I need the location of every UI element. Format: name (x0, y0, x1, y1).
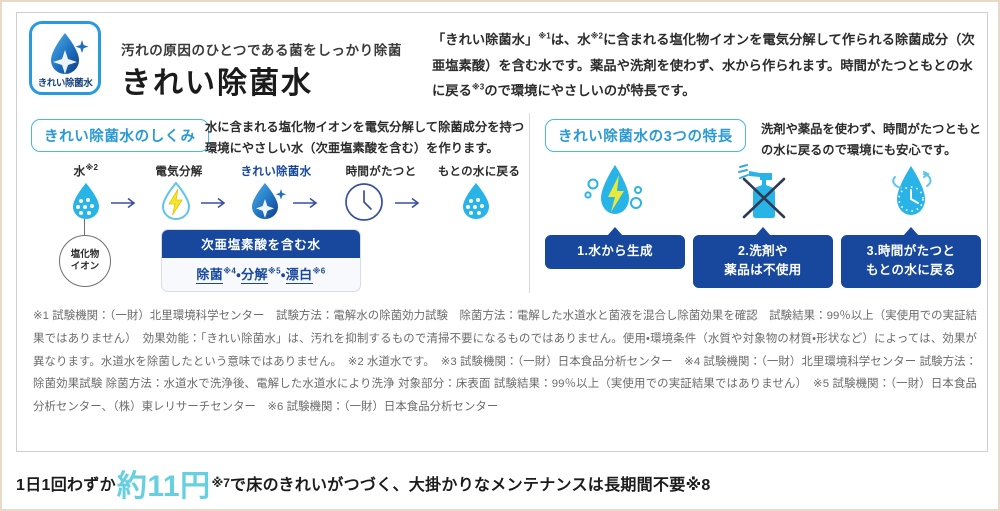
feature-card-3-label: 3.時間がたつともとの水に戻る (841, 235, 981, 288)
footnote-mark: ※6 (313, 267, 326, 276)
price-banner: 1日1回わずか 約11円 ※7 で床のきれいがつづく、大掛かりなメンテナンスは長… (16, 464, 988, 502)
flow-label-4: 時間がたつと (331, 163, 431, 179)
drop-clock-icon (874, 163, 948, 223)
mechanism-description: 水に含まれる塩化物イオンを電気分解して除菌成分を持つ環境にやさしい水（次亜塩素酸… (205, 117, 525, 159)
flow-arrow-3-icon (293, 197, 321, 209)
feature-cards: 1.水から生成 (537, 161, 989, 293)
features-section: きれい除菌水の3つの特長 洗剤や薬品を使わず、時間がたつともとの水に戻るので環境… (529, 105, 989, 300)
hypochlorous-acid-title: 次亜塩素酸を含む水 (162, 230, 360, 258)
footnote-mark: ※1 (538, 32, 550, 41)
effect-term: 分解 (241, 267, 268, 284)
flow-arrow-2-icon (201, 197, 229, 209)
feature-card-1-label: 1.水から生成 (545, 235, 685, 269)
drop-sparkle-icon (249, 181, 289, 221)
product-info-graphic: きれい除菌水 汚れの原因のひとつである菌をしっかり除菌 きれい除菌水 「きれい除… (0, 0, 1000, 511)
feature-card-2: 2.洗剤や薬品は不使用 (693, 161, 833, 288)
header-subtitle: 汚れの原因のひとつである菌をしっかり除菌 (121, 39, 402, 59)
flow-arrow-4-icon (395, 197, 423, 209)
header-paragraph: 「きれい除菌水」※1は、水※2に含まれる塩化物イオンを電気分解して作られる除菌成… (432, 27, 977, 104)
mechanism-section: きれい除菌水のしくみ 水に含まれる塩化物イオンを電気分解して除菌成分を持つ環境に… (17, 105, 529, 300)
features-section-tag: きれい除菌水の3つの特長 (545, 119, 746, 152)
banner-price-mark: ※7 (212, 476, 230, 490)
footnote-mark: ※3 (472, 83, 484, 92)
flow-label-1: 水※2 (49, 163, 123, 179)
hypochlorous-acid-effects: 除菌※4・分解※5・漂白※6 (162, 258, 360, 291)
spray-bottle-crossed-icon (726, 163, 800, 223)
banner-price: 約11円 (116, 461, 212, 505)
effect-term: 漂白 (286, 267, 313, 284)
footnote-mark: ※4 (223, 267, 236, 276)
footnote-mark: ※2 (591, 32, 603, 41)
page-title: きれい除菌水 (121, 58, 313, 102)
footnote-mark: ※5 (268, 267, 281, 276)
water-drop-sparkle-icon (44, 30, 90, 78)
features-description: 洗剤や薬品を使わず、時間がたつともとの水に戻るので環境にも安心です。 (761, 119, 987, 161)
banner-tail-text: で床のきれいがつづく、大掛かりなメンテナンスは長期間不要※8 (230, 471, 711, 495)
feature-card-3: 3.時間がたつともとの水に戻る (841, 161, 981, 288)
main-panel: きれい除菌水 汚れの原因のひとつである菌をしっかり除菌 きれい除菌水 「きれい除… (16, 12, 988, 452)
footnotes: ※1 試験機関：（一財）北里環境科学センター 試験方法：電解水の除菌効力試験 除… (33, 305, 977, 419)
flow-label-2: 電気分解 (139, 163, 219, 179)
flow-arrow-1-icon (111, 197, 139, 209)
feature-card-1: 1.水から生成 (545, 161, 685, 269)
effect-term: 除菌 (196, 267, 223, 284)
flow-label-3: きれい除菌水 (221, 163, 331, 179)
logo-caption: きれい除菌水 (32, 75, 98, 89)
header: きれい除菌水 汚れの原因のひとつである菌をしっかり除菌 きれい除菌水 「きれい除… (17, 13, 989, 105)
clock-icon (343, 181, 385, 223)
process-flow-diagram: 水※2 電気分解 きれい除菌水 時間がたつと もとの水に戻る (31, 163, 529, 293)
water-drop-dots-icon-end (459, 181, 493, 221)
mechanism-section-tag: きれい除菌水のしくみ (31, 119, 209, 152)
water-drop-dots-icon (69, 181, 103, 221)
hypochlorous-acid-box: 次亜塩素酸を含む水 除菌※4・分解※5・漂白※6 (161, 229, 361, 292)
feature-card-2-label: 2.洗剤や薬品は不使用 (693, 235, 833, 288)
drop-lightning-bubbles-icon (578, 163, 652, 223)
flow-label-5: もとの水に戻る (429, 163, 529, 179)
banner-lead-text: 1日1回わずか (16, 471, 116, 495)
drop-lightning-icon (159, 181, 193, 221)
chloride-ion-callout: 塩化物 イオン (59, 235, 111, 287)
brand-logo-badge: きれい除菌水 (29, 21, 101, 95)
